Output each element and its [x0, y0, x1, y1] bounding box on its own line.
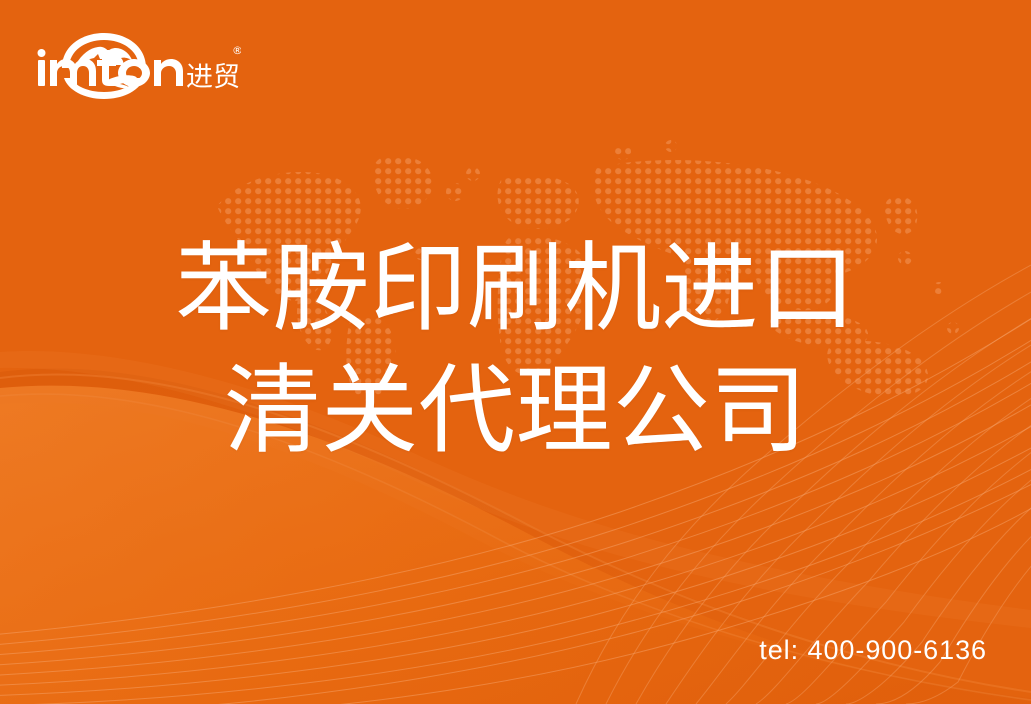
- headline-line-1: 苯胺印刷机进口: [0, 228, 1031, 350]
- promo-banner: 进贸通 ® 苯胺印刷机进口 清关代理公司 tel: 400-900-6136: [0, 0, 1031, 704]
- headline: 苯胺印刷机进口 清关代理公司: [0, 228, 1031, 472]
- headline-line-2: 清关代理公司: [0, 350, 1031, 472]
- imton-logo[interactable]: 进贸通 ®: [36, 28, 241, 106]
- logo-chinese-name: 进贸通: [186, 62, 241, 93]
- trademark-symbol: ®: [232, 44, 241, 57]
- contact-telephone[interactable]: tel: 400-900-6136: [759, 635, 987, 666]
